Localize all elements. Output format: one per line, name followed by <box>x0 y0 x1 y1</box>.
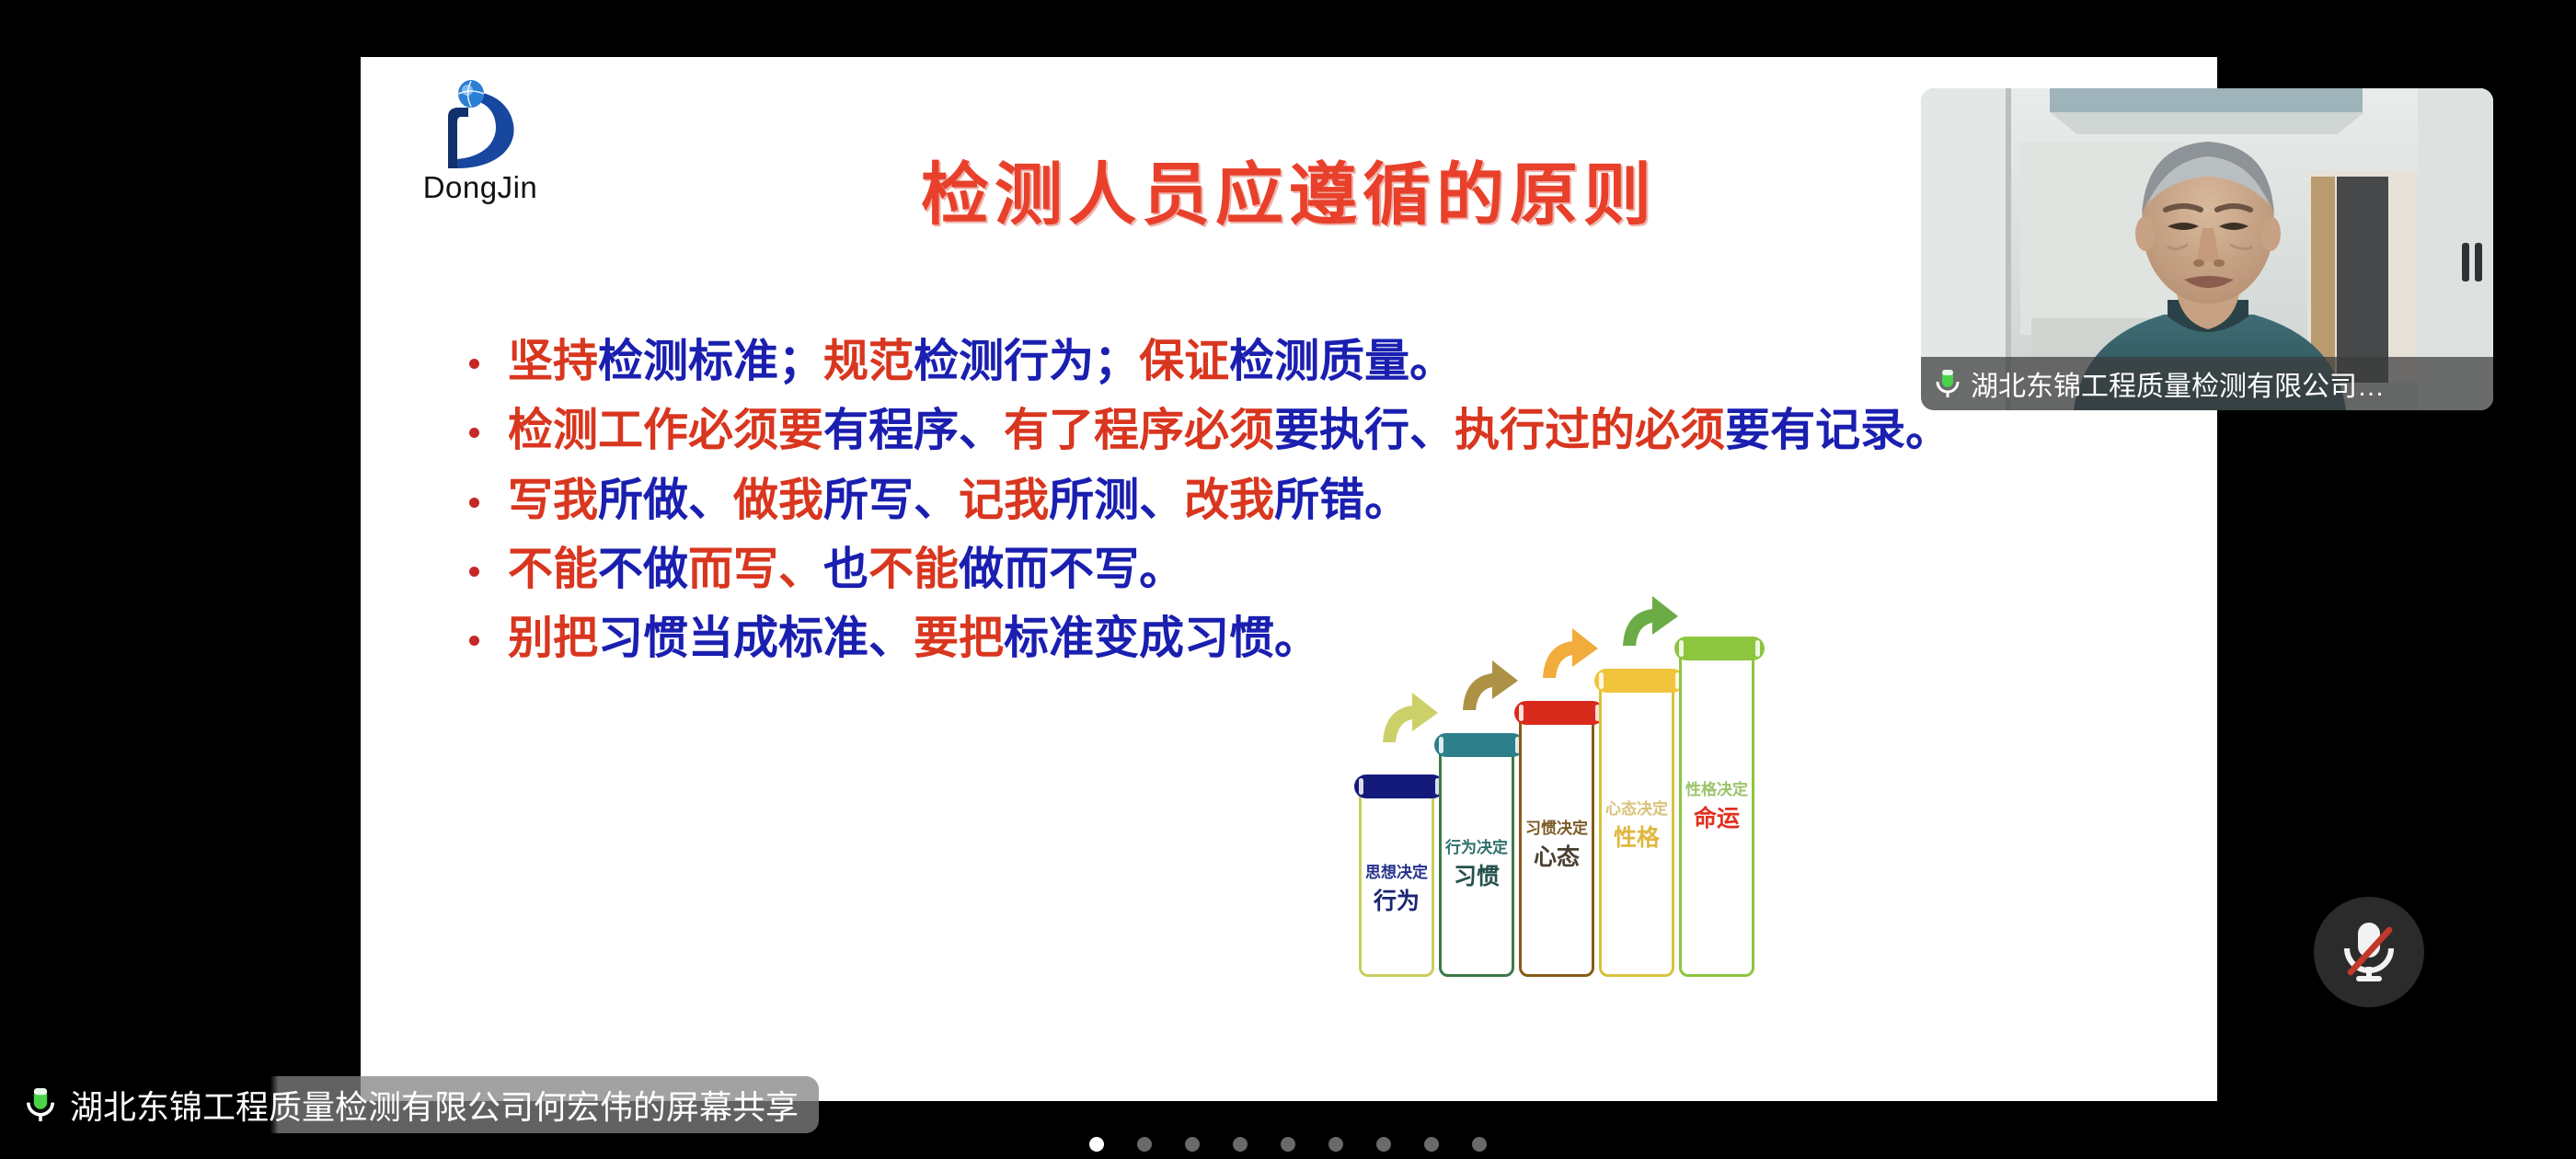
chain-arrow <box>1379 689 1443 746</box>
chain-card-bottom-label: 心态 <box>1522 844 1592 870</box>
pager-dot[interactable] <box>1233 1137 1248 1152</box>
microphone-icon <box>24 1085 57 1124</box>
microphone-icon <box>1934 368 1961 399</box>
bullet-segment: 要有记录。 <box>1725 405 1950 455</box>
bullet-segment: 做我 <box>733 475 823 525</box>
chain-card-bottom-label: 行为 <box>1362 889 1432 914</box>
pager-dot[interactable] <box>1376 1137 1391 1152</box>
bullet-segment: 所测、 <box>1049 475 1184 525</box>
bullet-segment: 检测工作必须要 <box>508 405 823 455</box>
bullet-segment: 检测质量。 <box>1229 336 1455 386</box>
bullet-segment: 不能 <box>508 544 598 594</box>
bullet-line: 坚持检测标准；规范检测行为；保证检测质量。 <box>453 333 2109 389</box>
bullet-segment: 标准变成习惯。 <box>1004 613 1319 663</box>
chain-card: 性格决定命运 <box>1679 646 1754 977</box>
bullet-segment: 要把 <box>914 613 1004 663</box>
chain-card-cap <box>1434 733 1524 757</box>
chain-card-cap <box>1674 637 1765 660</box>
bullet-segment: 写我 <box>508 475 598 525</box>
slide-pager[interactable] <box>0 1137 2576 1152</box>
bullet-segment: 不做 <box>598 544 688 594</box>
chain-card-cap <box>1354 775 1444 798</box>
chain-card: 思想决定行为 <box>1359 784 1434 977</box>
pager-dot[interactable] <box>1281 1137 1295 1152</box>
decision-chain-diagram: 思想决定行为行为决定习惯习惯决定心态心态决定性格性格决定命运 <box>1359 609 1929 977</box>
bullet-segment: 要执行、 <box>1274 405 1455 455</box>
chain-card-bottom-label: 性格 <box>1602 825 1672 851</box>
participant-video-tile[interactable]: 湖北东锦工程质量检测有限公司… <box>1921 88 2493 410</box>
pager-dot[interactable] <box>1328 1137 1343 1152</box>
chain-arrow <box>1619 592 1684 649</box>
chain-card-bottom-label: 习惯 <box>1442 864 1512 889</box>
chain-arrow <box>1459 657 1524 714</box>
bullet-segment: 检测标准 <box>598 336 778 386</box>
bullet-segment: ； <box>778 336 823 386</box>
bullet-segment: 坚持 <box>508 336 598 386</box>
bullet-segment: 习惯当成标准、 <box>598 613 914 663</box>
chain-card-bottom-label: 命运 <box>1682 806 1752 832</box>
participant-name-bar: 湖北东锦工程质量检测有限公司… <box>1921 357 2493 410</box>
chain-card-top-label: 思想决定 <box>1362 864 1432 881</box>
bullet-segment: 规范 <box>823 336 914 386</box>
bullet-segment: 做而不写。 <box>959 544 1184 594</box>
chain-arrow <box>1539 625 1604 682</box>
bullet-segment: 有了程序必须 <box>1004 405 1274 455</box>
bullet-line: 写我所做、做我所写、记我所测、改我所错。 <box>453 472 2109 528</box>
chain-card-cap <box>1514 701 1604 725</box>
bullet-line: 检测工作必须要有程序、有了程序必须要执行、执行过的必须要有记录。 <box>453 402 2109 458</box>
bullet-segment: ； <box>1094 336 1139 386</box>
bullet-segment: 所错。 <box>1274 475 1409 525</box>
bullet-segment: 有程序、 <box>823 405 1004 455</box>
meeting-screen: DongJin 检测人员应遵循的原则 坚持检测标准；规范检测行为；保证检测质量。… <box>0 0 2576 1159</box>
chain-card: 习惯决定心态 <box>1519 710 1594 977</box>
pager-dot[interactable] <box>1472 1137 1487 1152</box>
chain-card-top-label: 行为决定 <box>1442 839 1512 856</box>
bullet-segment: 别把 <box>508 613 598 663</box>
chain-card: 心态决定性格 <box>1599 678 1674 977</box>
bullet-segment: 记我 <box>959 475 1049 525</box>
mute-microphone-button[interactable] <box>2314 897 2424 1007</box>
pager-dot[interactable] <box>1424 1137 1439 1152</box>
participant-name: 湖北东锦工程质量检测有限公司… <box>1971 363 2385 404</box>
bullet-segment: 所做、 <box>598 475 733 525</box>
bullet-segment: 保证 <box>1139 336 1229 386</box>
chain-card-top-label: 性格决定 <box>1682 781 1752 798</box>
chain-card-top-label: 心态决定 <box>1602 800 1672 818</box>
pager-dot[interactable] <box>1089 1137 1104 1152</box>
bullet-segment: 而写、 <box>688 544 823 594</box>
microphone-muted-icon <box>2338 919 2400 985</box>
pager-dot[interactable] <box>1185 1137 1200 1152</box>
bullet-segment: 不能 <box>868 544 959 594</box>
chain-card-top-label: 习惯决定 <box>1522 820 1592 837</box>
screen-share-label: 湖北东锦工程质量检测有限公司何宏伟的屏幕共享 <box>70 1081 799 1129</box>
chain-card-cap <box>1594 669 1685 693</box>
bullet-segment: 也 <box>823 544 868 594</box>
chain-card: 行为决定习惯 <box>1439 742 1514 977</box>
bullet-segment: 改我 <box>1184 475 1274 525</box>
pager-dot[interactable] <box>1137 1137 1152 1152</box>
bullet-segment: 所写、 <box>823 475 959 525</box>
bullet-line: 不能不做而写、也不能做而不写。 <box>453 541 2109 597</box>
bullet-segment: 执行过的必须 <box>1455 405 1725 455</box>
bullet-segment: 检测行为 <box>914 336 1094 386</box>
screen-share-banner: 湖北东锦工程质量检测有限公司何宏伟的屏幕共享 <box>0 1076 819 1133</box>
